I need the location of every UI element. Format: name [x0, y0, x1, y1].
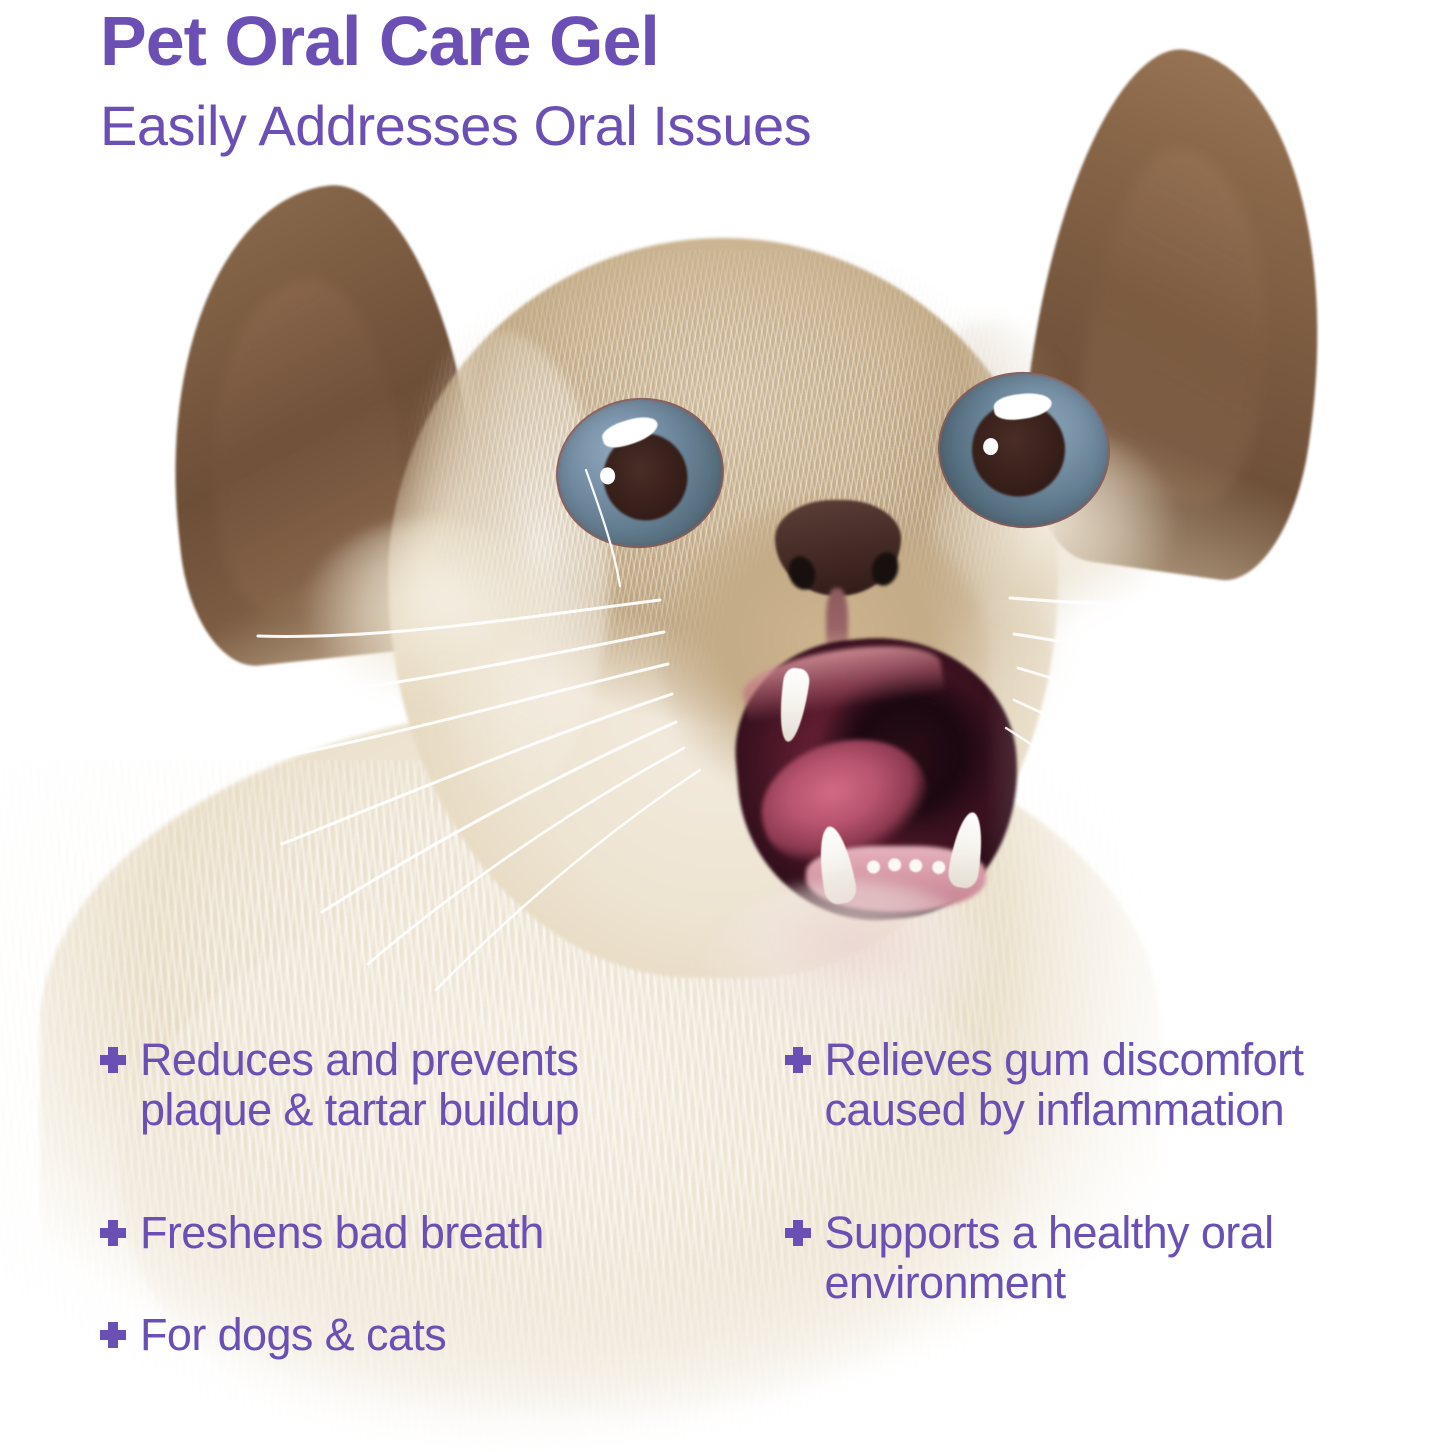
page-subtitle: Easily Addresses Oral Issues: [100, 98, 811, 154]
cat-incisors: [862, 856, 958, 878]
plus-icon: [785, 1220, 811, 1246]
page-title: Pet Oral Care Gel: [100, 6, 659, 76]
plus-icon: [785, 1047, 811, 1073]
benefit-bad-breath: Freshens bad breath: [100, 1208, 703, 1258]
plus-icon: [100, 1220, 126, 1246]
plus-icon: [100, 1047, 126, 1073]
benefits-right-column: Relieves gum discomfort caused by inflam…: [723, 1035, 1445, 1423]
benefit-label: For dogs & cats: [140, 1310, 446, 1360]
benefit-healthy-oral-environment: Supports a healthy oral environment: [785, 1208, 1445, 1309]
benefit-gum-discomfort: Relieves gum discomfort caused by inflam…: [785, 1035, 1445, 1136]
benefit-label: Relieves gum discomfort caused by inflam…: [825, 1035, 1304, 1136]
benefit-label: Reduces and prevents plaque & tartar bui…: [140, 1035, 579, 1136]
benefits-list: Reduces and prevents plaque & tartar bui…: [0, 1035, 1445, 1423]
benefit-label: Supports a healthy oral environment: [825, 1208, 1274, 1309]
plus-icon: [100, 1322, 126, 1348]
benefit-dogs-and-cats: For dogs & cats: [100, 1310, 703, 1360]
cat-chin: [700, 880, 1000, 1060]
benefit-plaque-tartar: Reduces and prevents plaque & tartar bui…: [100, 1035, 703, 1136]
benefits-left-column: Reduces and prevents plaque & tartar bui…: [0, 1035, 723, 1423]
benefit-label: Freshens bad breath: [140, 1208, 544, 1258]
product-feature-image: Pet Oral Care Gel Easily Addresses Oral …: [0, 0, 1445, 1452]
